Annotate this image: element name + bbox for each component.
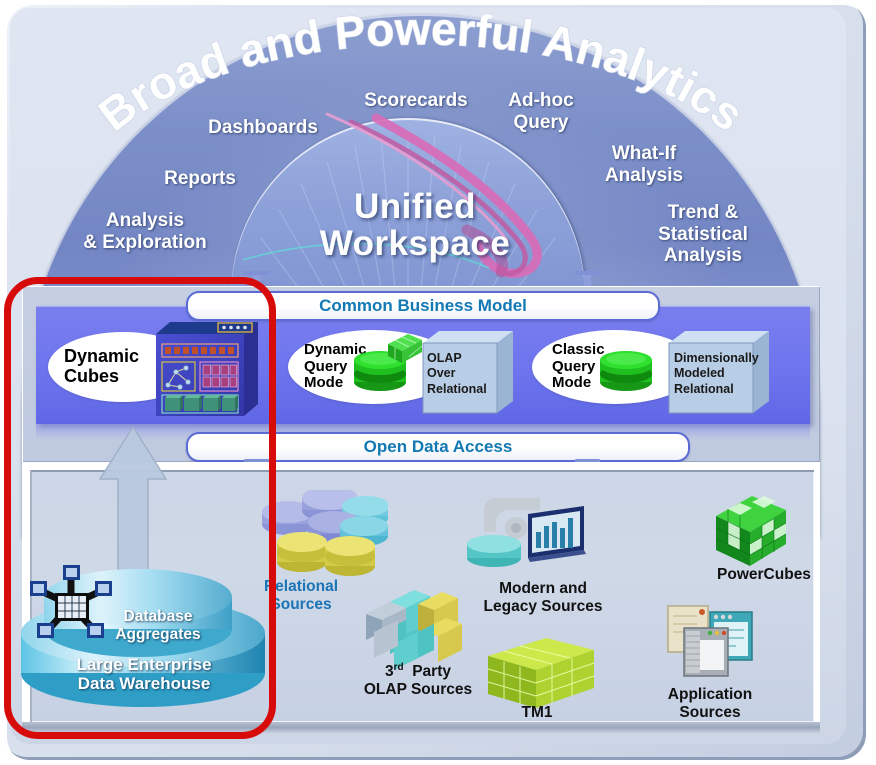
dmr-label: DimensionallyModeledRelational — [674, 351, 766, 397]
open-data-access-capsule: Open Data Access — [186, 432, 690, 462]
large-enterprise-data-warehouse-label: Large EnterpriseData Warehouse — [38, 655, 250, 694]
monitor-chart-icon — [466, 492, 588, 574]
uw-line1: Unified — [354, 187, 476, 226]
application-windows-icon — [664, 602, 756, 682]
disk-stack-icon — [256, 490, 388, 580]
tp-sup: rd — [394, 662, 404, 673]
olap-over-relational-label: OLAPOverRelational — [427, 351, 501, 397]
dome-label-dashboards: Dashboards — [188, 117, 338, 139]
dome-label-scorecards: Scorecards — [336, 90, 496, 112]
olap-over-relational-box: OLAPOverRelational — [421, 329, 515, 421]
lime-cube-icon — [484, 636, 598, 712]
tp-rest: Party — [404, 663, 451, 680]
server-rack-icon — [146, 312, 268, 422]
green-cube-icon — [384, 330, 426, 366]
green-database-icon — [596, 340, 662, 396]
uw-line2: Workspace — [320, 224, 511, 263]
modern-legacy-sources-label: Modern andLegacy Sources — [458, 580, 628, 616]
dynamic-cubes-label: DynamicCubes — [64, 347, 139, 387]
green-cube-icon — [712, 494, 790, 570]
dome-label-ad-hoc-query: Ad-hocQuery — [486, 90, 596, 133]
unified-workspace-label: Unified Workspace — [300, 188, 530, 262]
diagram-canvas: Broad and Powerful Analytics Scorecards … — [0, 0, 876, 765]
tp-line2: OLAP Sources — [364, 681, 472, 698]
dome-label-reports: Reports — [140, 168, 260, 190]
dome-label-what-if-analysis: What-IfAnalysis — [582, 143, 706, 186]
relational-sources-label: RelationalSources — [236, 578, 366, 614]
tp-prefix: 3 — [385, 663, 394, 680]
dimensionally-modeled-relational-box: DimensionallyModeledRelational — [667, 329, 771, 421]
powercubes-label: PowerCubes — [694, 566, 834, 584]
database-aggregates-label: DatabaseAggregates — [78, 608, 238, 643]
connector-right-upper-cap — [575, 271, 600, 275]
connector-left-upper-cap — [244, 271, 269, 275]
data-sources-bottom-bar — [22, 722, 820, 734]
tm1-label: TM1 — [492, 704, 582, 722]
application-sources-label: ApplicationSources — [640, 686, 780, 722]
third-party-olap-sources-label: 3rd Party OLAP Sources — [338, 662, 498, 699]
dome-label-analysis-exploration: Analysis& Exploration — [56, 210, 234, 253]
dome-label-trend-statistical-analysis: Trend &StatisticalAnalysis — [630, 202, 776, 267]
